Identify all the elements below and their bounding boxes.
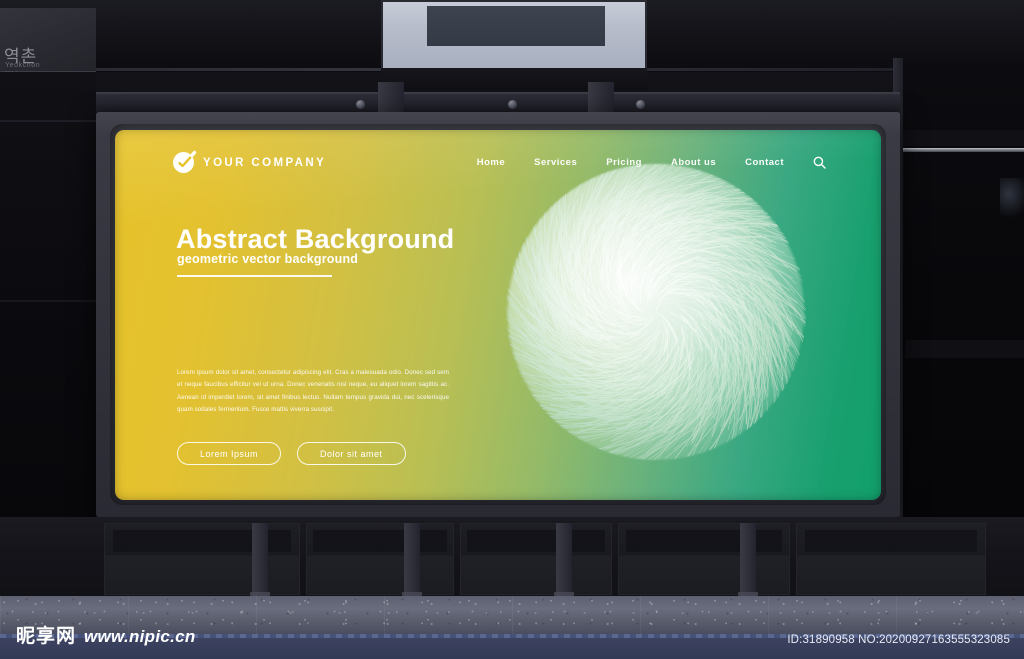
ad-body-copy: Lorem ipsum dolor sit amet, consectetur … <box>177 367 449 417</box>
check-circle-icon <box>173 152 194 173</box>
right-wall-band-lower <box>905 340 1024 358</box>
subway-station-scene: 역촌 Yeokchon 6814 <box>0 0 1024 659</box>
mount-post-right <box>588 82 614 116</box>
watermark-id-text: ID:31890958 NO:20200927163555323085 <box>787 634 1010 646</box>
watermark-branding: 昵享网 www.nipic.cn <box>16 627 196 646</box>
right-wall-band <box>903 130 1024 146</box>
headline-underline-rule <box>177 275 332 277</box>
left-wall-seam <box>0 120 96 122</box>
cta-button-secondary[interactable]: Dolor sit amet <box>297 442 406 465</box>
watermark-site-name: 昵享网 <box>16 627 76 646</box>
chrome-handrail <box>903 148 1024 152</box>
left-wall <box>0 72 96 517</box>
fuzzy-sphere-graphic <box>486 142 826 482</box>
hanging-sign-display <box>427 6 605 46</box>
panel-post-1 <box>252 523 268 599</box>
nav-item-services[interactable]: Services <box>534 157 577 168</box>
nav-item-home[interactable]: Home <box>477 157 505 168</box>
nav-links: Home Services Pricing About us Contact <box>477 156 826 169</box>
left-wall-seam-lower <box>0 300 96 302</box>
cta-button-primary[interactable]: Lorem Ipsum <box>177 442 281 465</box>
brand-logo[interactable]: YOUR COMPANY <box>173 152 326 173</box>
brand-name: YOUR COMPANY <box>203 157 326 169</box>
station-name-plate: 역촌 Yeokchon 6814 <box>0 8 96 72</box>
nav-item-contact[interactable]: Contact <box>745 157 784 168</box>
wall-panel-1 <box>104 523 300 595</box>
billboard-mount-rail-highlight <box>96 92 900 94</box>
ad-navigation-bar: YOUR COMPANY Home Services Pricing About… <box>115 130 881 190</box>
station-name-romanized: Yeokchon <box>5 62 40 69</box>
nav-item-about-us[interactable]: About us <box>671 157 716 168</box>
mount-post-left <box>378 82 404 116</box>
panel-post-4 <box>740 523 756 599</box>
watermark-url: www.nipic.cn <box>84 628 196 645</box>
ad-cta-row: Lorem Ipsum Dolor sit amet <box>177 442 406 465</box>
panel-post-2 <box>404 523 420 599</box>
overhead-hanging-sign <box>381 0 647 70</box>
nav-item-pricing[interactable]: Pricing <box>606 157 642 168</box>
sphere-fiber-strands <box>486 142 826 482</box>
wall-panel-5 <box>796 523 986 595</box>
ad-headline: Abstract Background <box>176 226 454 253</box>
search-icon[interactable] <box>813 156 826 169</box>
wall-panel-2 <box>306 523 454 595</box>
right-wall-reflection <box>1000 178 1024 218</box>
mount-bolt-center <box>508 100 517 109</box>
mount-bolt-left <box>356 100 365 109</box>
mount-bolt-right <box>636 100 645 109</box>
wall-panel-4 <box>618 523 790 595</box>
panel-post-3 <box>556 523 572 599</box>
sphere-core-glow <box>508 164 804 460</box>
advertisement-canvas: YOUR COMPANY Home Services Pricing About… <box>115 130 881 500</box>
billboard-mount-rail <box>96 92 900 112</box>
ad-subheadline: geometric vector background <box>177 252 358 266</box>
wall-panel-3 <box>460 523 612 595</box>
